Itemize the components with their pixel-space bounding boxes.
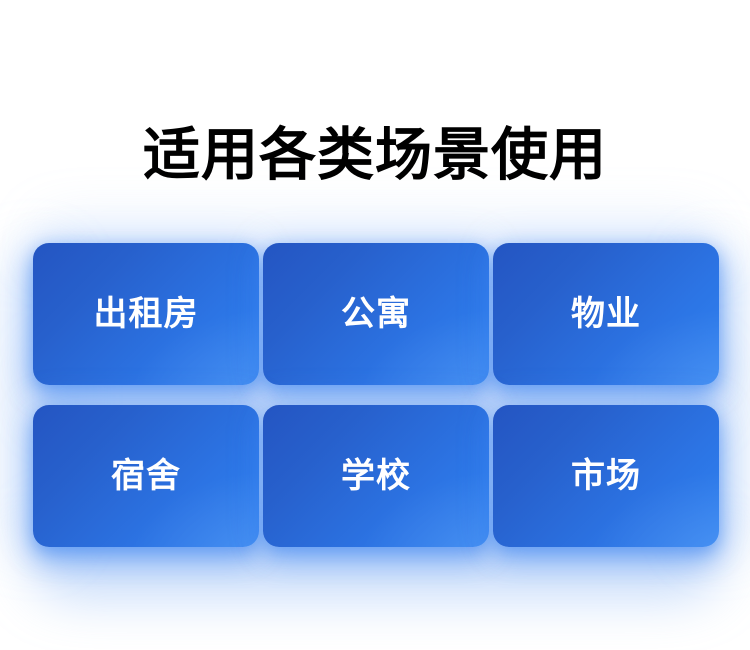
page-title: 适用各类场景使用 (143, 124, 607, 188)
scenario-showcase-page: 适用各类场景使用 出租房 公寓 物业 宿舍 学校 市场 (0, 0, 750, 650)
scenario-tile-school[interactable]: 学校 (263, 405, 489, 547)
scenario-tile-property-management[interactable]: 物业 (493, 243, 719, 385)
scenario-tile-market[interactable]: 市场 (493, 405, 719, 547)
scenario-tile-label: 学校 (341, 459, 411, 493)
scenario-tile-label: 市场 (571, 459, 641, 493)
page-title-container: 适用各类场景使用 (0, 86, 750, 226)
scenario-tile-label: 出租房 (94, 297, 199, 331)
scenario-tile-dormitory[interactable]: 宿舍 (33, 405, 259, 547)
scenario-tile-apartment[interactable]: 公寓 (263, 243, 489, 385)
scenario-tile-label: 宿舍 (111, 459, 181, 493)
scenario-tile-label: 公寓 (341, 297, 411, 331)
scenario-tile-rental-room[interactable]: 出租房 (33, 243, 259, 385)
scenario-tile-grid: 出租房 公寓 物业 宿舍 学校 市场 (33, 243, 719, 547)
scenario-tile-label: 物业 (571, 297, 641, 331)
